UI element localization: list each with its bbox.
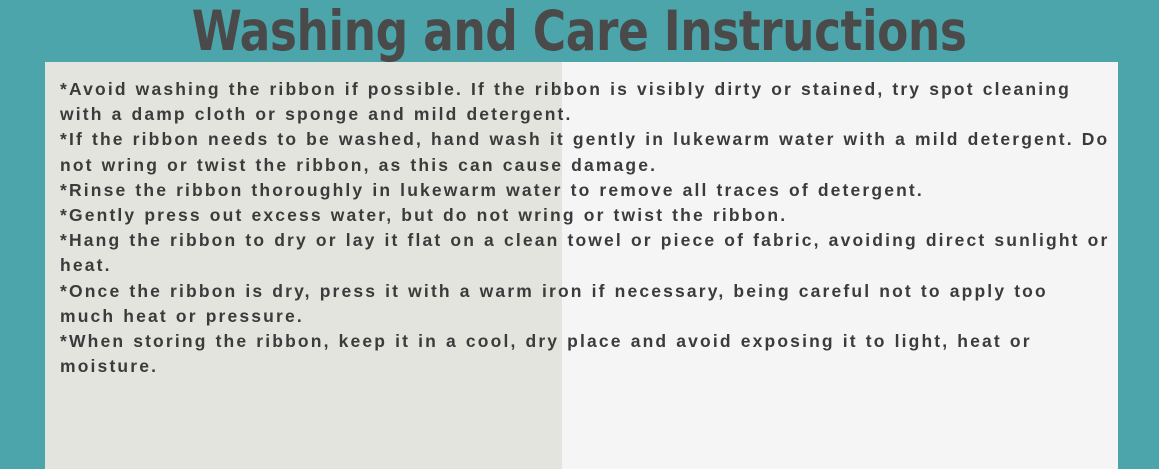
title-bar: Washing and Care Instructions — [0, 0, 1159, 62]
list-item: *Once the ribbon is dry, press it with a… — [60, 279, 1110, 329]
infographic-poster: Washing and Care Instructions *Avoid was… — [0, 0, 1159, 469]
list-item: *Avoid washing the ribbon if possible. I… — [60, 77, 1110, 127]
page-title: Washing and Care Instructions — [192, 2, 967, 60]
list-item: *Hang the ribbon to dry or lay it flat o… — [60, 228, 1110, 278]
list-item: *Rinse the ribbon thoroughly in lukewarm… — [60, 178, 1110, 203]
list-item: *Gently press out excess water, but do n… — [60, 203, 1110, 228]
list-item: *If the ribbon needs to be washed, hand … — [60, 127, 1110, 177]
instructions-card: *Avoid washing the ribbon if possible. I… — [45, 62, 1118, 469]
list-item: *When storing the ribbon, keep it in a c… — [60, 329, 1110, 379]
instructions-list: *Avoid washing the ribbon if possible. I… — [60, 77, 1110, 379]
